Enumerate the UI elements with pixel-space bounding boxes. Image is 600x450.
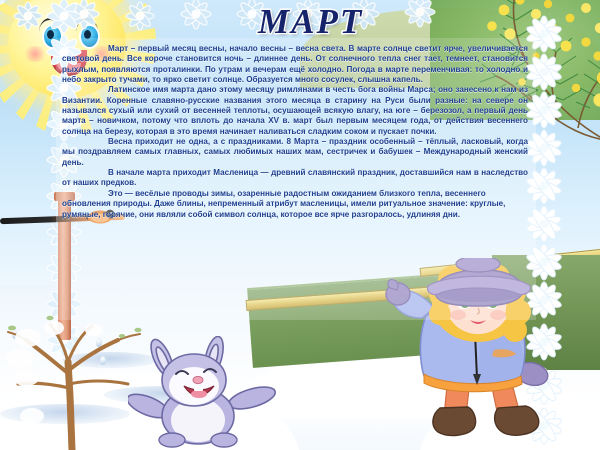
article-text: Март – первый месяц весны, начало весны …	[62, 44, 528, 220]
paragraph-4: В начале марта приходит Масленица — древ…	[62, 168, 528, 189]
bunny-illustration	[128, 336, 278, 450]
girl-icon	[382, 258, 577, 450]
page-title: МАРТ	[258, 2, 363, 42]
bunny-icon	[128, 336, 278, 450]
paragraph-1: Март – первый месяц весны, начало весны …	[62, 44, 528, 85]
paragraph-3: Весна приходит не одна, а с праздниками.…	[62, 137, 528, 168]
paragraph-5: Это — весёлые проводы зимы, озаренные ра…	[62, 189, 528, 220]
march-poster: МАРТ Март – первый месяц весны, начало в…	[0, 0, 600, 450]
girl-illustration	[382, 258, 577, 450]
paragraph-2: Латинское имя марта дано этому месяцу ри…	[62, 85, 528, 137]
